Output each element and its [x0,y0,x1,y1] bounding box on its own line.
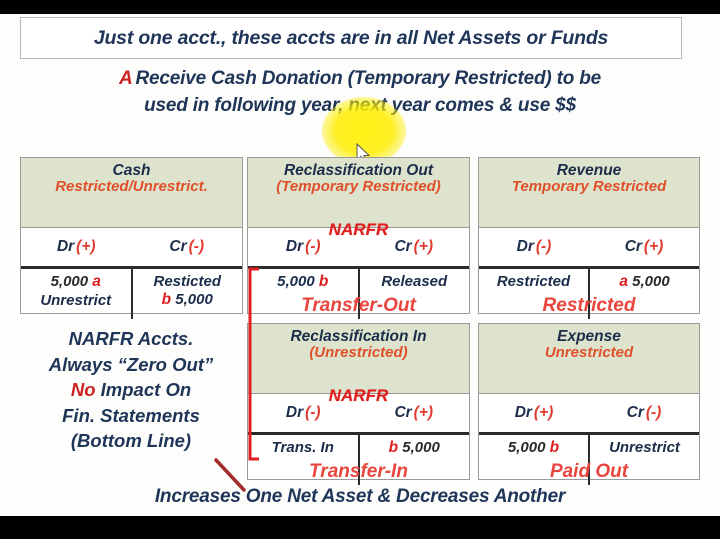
revenue-debit-sign: (-) [536,238,552,256]
reclass-out-credit-cell: Released [360,269,470,319]
expense-drcr-row: Dr (+) Cr (-) [479,394,699,435]
reclass-in-header-main: Reclassification In [250,328,467,345]
expense-debit-header: Dr (+) [479,394,589,432]
footer-text: Increases One Net Asset & Decreases Anot… [0,486,720,508]
revenue-debit-entry-1: Restricted [485,273,582,291]
cash-debit-sign: (+) [76,238,95,256]
cash-header-sub: Restricted/Unrestrict. [23,179,240,196]
reclass-in-header: Reclassification In (Unrestricted) NARFR [248,324,469,394]
t-account-reclassification-out: Reclassification Out (Temporary Restrict… [247,157,470,314]
reclass-in-data-row: Trans. In b 5,000 Transfer-In [248,435,469,485]
cash-debit-tag: a [92,273,101,290]
note-line-1: NARFR Accts. [18,326,244,352]
reclass-out-debit-entry-1: 5,000 b [254,273,352,292]
letterbox-bottom [0,516,720,539]
revenue-header-sub: Temporary Restricted [481,179,697,196]
reclass-out-debit-sign: (-) [305,238,321,256]
statement-line-1: AReceive Cash Donation (Temporary Restri… [0,66,720,93]
cash-credit-entry-1: Resticted [139,273,237,291]
note-line-3-rest: Impact On [101,379,191,400]
reclass-out-credit-header: Cr (+) [359,228,470,266]
cash-credit-header: Cr (-) [132,228,243,266]
cash-credit-label: Cr [169,238,186,256]
reclass-in-credit-cell: b 5,000 [360,435,470,485]
t-account-revenue: Revenue Temporary Restricted Dr (-) Cr (… [478,157,700,314]
expense-debit-amount: 5,000 [508,439,546,456]
expense-debit-tag: b [550,439,559,456]
statement-line-1-text: Receive Cash Donation (Temporary Restric… [136,68,601,89]
cash-credit-tag: b [162,291,171,308]
cash-credit-entry-2: b 5,000 [139,291,237,310]
transfer-link-bracket-icon [246,266,262,462]
expense-header: Expense Unrestricted [479,324,699,394]
letterbox-top [0,0,720,14]
statement-marker: A [119,68,133,89]
reclass-out-header-main: Reclassification Out [250,162,467,179]
cash-header-main: Cash [23,162,240,179]
reclass-in-credit-tag: b [389,439,398,456]
reclass-in-debit-cell: Trans. In [248,435,360,485]
reclass-in-debit-header: Dr (-) [248,394,359,432]
title-text: Just one acct., these accts are in all N… [94,27,608,50]
note-line-2: Always “Zero Out” [18,352,244,378]
cash-drcr-row: Dr (+) Cr (-) [21,228,242,269]
revenue-credit-cell: a 5,000 [590,269,699,319]
expense-header-main: Expense [481,328,697,345]
cash-credit-amount: 5,000 [175,291,213,308]
narfr-note-block: NARFR Accts. Always “Zero Out” No Impact… [18,326,244,454]
reclass-in-header-sub: (Unrestricted) [250,345,467,362]
expense-credit-sign: (-) [646,404,662,422]
revenue-drcr-row: Dr (-) Cr (+) [479,228,699,269]
t-account-expense: Expense Unrestricted Dr (+) Cr (-) 5,000… [478,323,700,480]
reclass-out-debit-tag: b [319,273,328,290]
cash-data-row: 5,000 a Unrestrict Resticted b 5,000 [21,269,242,319]
revenue-header-main: Revenue [481,162,697,179]
reclass-out-debit-cell: 5,000 b [248,269,360,319]
revenue-debit-label: Dr [517,238,534,256]
expense-credit-entry-1: Unrestrict [596,439,693,457]
expense-debit-entry-1: 5,000 b [485,439,582,458]
reclass-in-credit-label: Cr [394,404,411,422]
note-line-5: (Bottom Line) [18,428,244,454]
reclass-out-credit-entry-1: Released [366,273,464,291]
statement-block: AReceive Cash Donation (Temporary Restri… [0,66,720,120]
reclass-out-drcr-row: Dr (-) Cr (+) [248,228,469,269]
reclass-out-debit-header: Dr (-) [248,228,359,266]
note-pointer-line-icon [214,458,254,494]
expense-header-sub: Unrestricted [481,345,697,362]
expense-debit-label: Dr [515,404,532,422]
revenue-header: Revenue Temporary Restricted [479,158,699,228]
revenue-credit-header: Cr (+) [589,228,699,266]
reclass-out-debit-amount: 5,000 [277,273,315,290]
reclass-in-drcr-row: Dr (-) Cr (+) [248,394,469,435]
expense-debit-cell: 5,000 b [479,435,590,485]
statement-line-2: used in following year, next year comes … [0,93,720,120]
slide-canvas: Just one acct., these accts are in all N… [0,14,720,516]
cash-debit-header: Dr (+) [21,228,132,266]
title-banner: Just one acct., these accts are in all N… [20,17,682,59]
revenue-data-row: Restricted a 5,000 Restricted [479,269,699,319]
reclass-out-header: Reclassification Out (Temporary Restrict… [248,158,469,228]
expense-debit-sign: (+) [534,404,553,422]
expense-credit-cell: Unrestrict [590,435,699,485]
reclass-in-credit-sign: (+) [414,404,433,422]
reclass-in-credit-header: Cr (+) [359,394,470,432]
revenue-debit-header: Dr (-) [479,228,589,266]
cash-credit-cell: Resticted b 5,000 [133,269,243,319]
t-account-cash: Cash Restricted/Unrestrict. Dr (+) Cr (-… [20,157,243,314]
expense-credit-header: Cr (-) [589,394,699,432]
cash-debit-entry-1: 5,000 a [27,273,125,292]
cash-debit-entry-2: Unrestrict [27,292,125,310]
note-line-3: No Impact On [18,377,244,403]
reclass-out-data-row: 5,000 b Released Transfer-Out [248,269,469,319]
cash-credit-sign: (-) [189,238,205,256]
reclass-in-debit-sign: (-) [305,404,321,422]
reclass-in-credit-entry-1: b 5,000 [366,439,464,458]
revenue-credit-entry-1: a 5,000 [596,273,693,292]
cash-debit-label: Dr [57,238,74,256]
note-line-4: Fin. Statements [18,403,244,429]
revenue-credit-label: Cr [625,238,642,256]
note-line-3-emphasis: No [71,379,96,400]
reclass-out-credit-label: Cr [394,238,411,256]
revenue-debit-cell: Restricted [479,269,590,319]
cash-debit-amount: 5,000 [51,273,89,290]
expense-credit-label: Cr [627,404,644,422]
revenue-credit-tag: a [619,273,628,290]
reclass-in-debit-entry-1: Trans. In [254,439,352,457]
revenue-credit-sign: (+) [644,238,663,256]
footer-block: Increases One Net Asset & Decreases Anot… [0,486,720,508]
reclass-out-header-sub: (Temporary Restricted) [250,179,467,196]
reclass-in-credit-amount: 5,000 [402,439,440,456]
reclass-in-debit-label: Dr [286,404,303,422]
cash-debit-cell: 5,000 a Unrestrict [21,269,133,319]
reclass-out-debit-label: Dr [286,238,303,256]
cash-header: Cash Restricted/Unrestrict. [21,158,242,228]
expense-data-row: 5,000 b Unrestrict Paid Out [479,435,699,485]
revenue-credit-amount: 5,000 [632,273,670,290]
t-account-reclassification-in: Reclassification In (Unrestricted) NARFR… [247,323,470,480]
reclass-out-credit-sign: (+) [414,238,433,256]
